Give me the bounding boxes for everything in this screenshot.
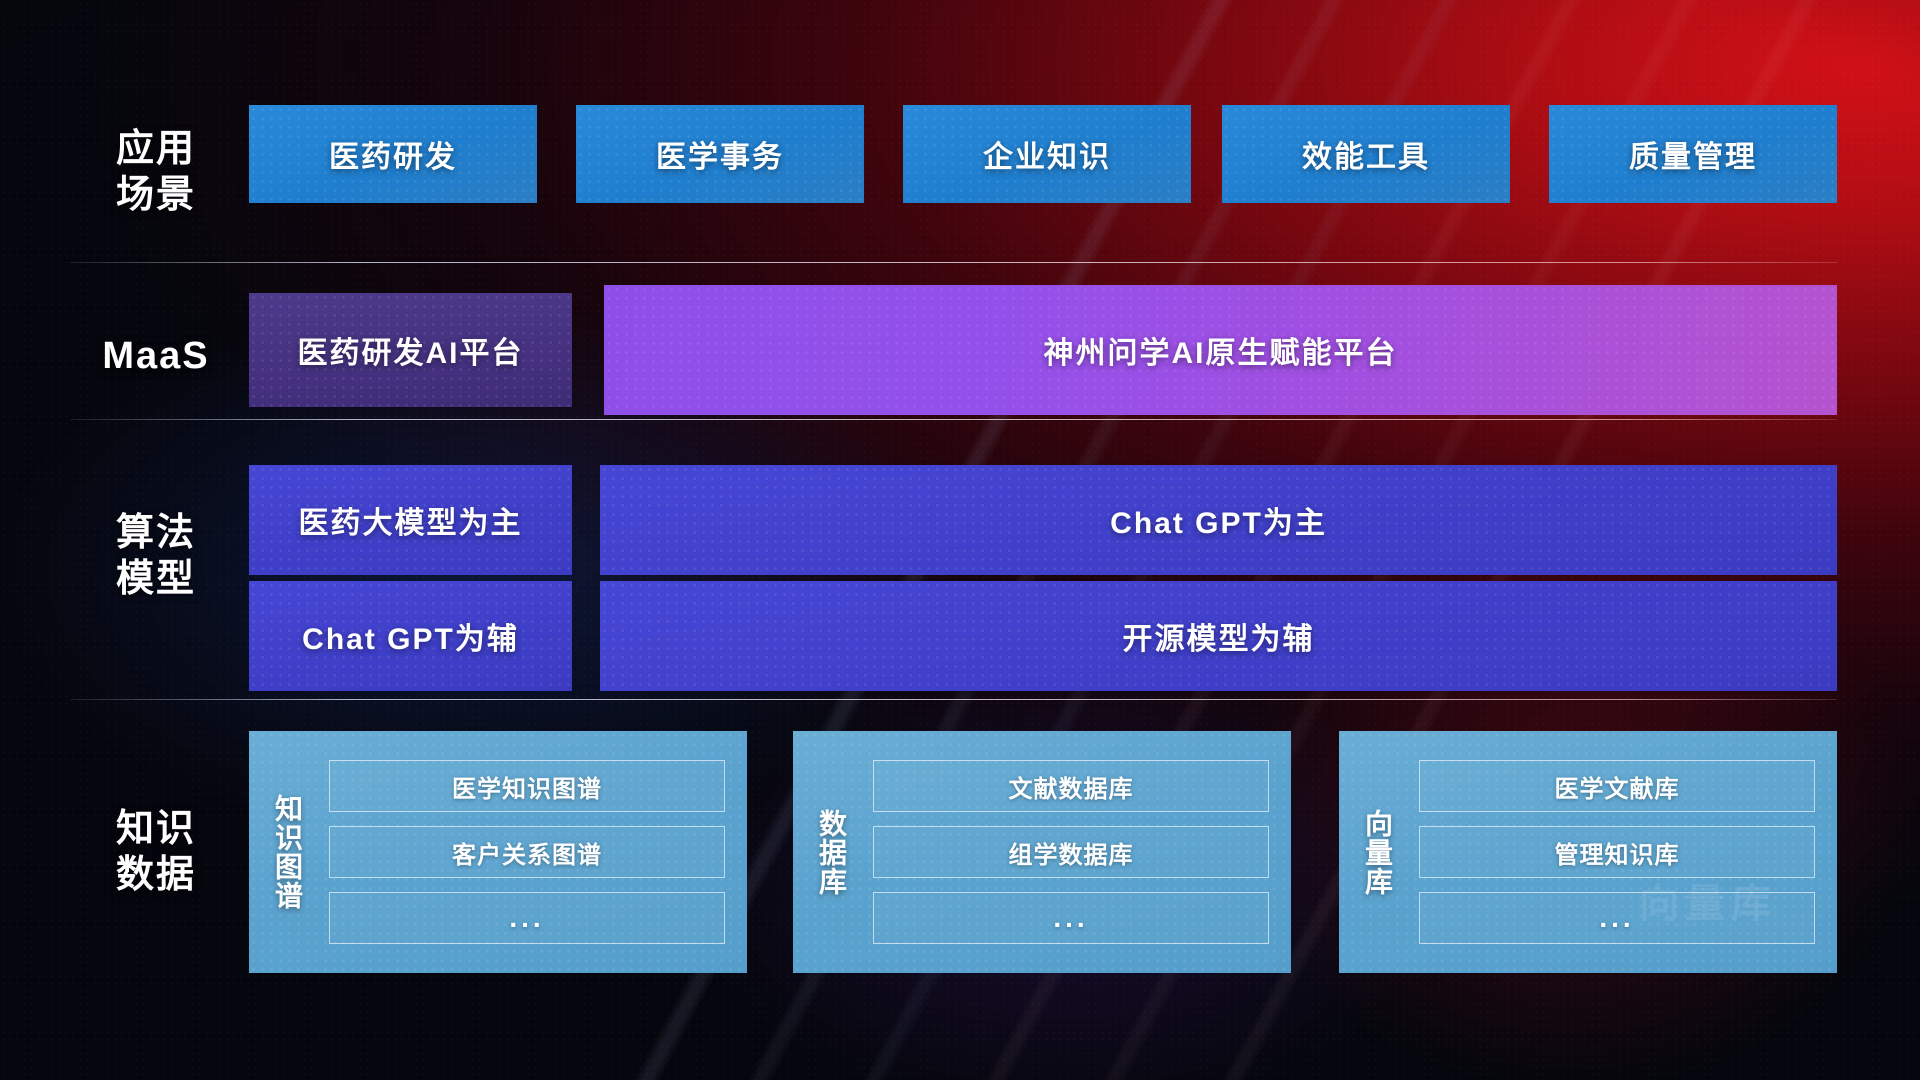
knowledge-group-title: 数据库: [793, 731, 869, 973]
row-label-application: 应用 场景: [70, 126, 242, 218]
knowledge-item[interactable]: 客户关系图谱: [329, 826, 725, 878]
knowledge-item-more[interactable]: ...: [329, 892, 725, 944]
knowledge-item[interactable]: 组学数据库: [873, 826, 1269, 878]
knowledge-item[interactable]: 医学文献库: [1419, 760, 1815, 812]
architecture-diagram-slide: 应用 场景 医药研发 医学事务 企业知识 效能工具 质量管理 MaaS 医药研发…: [0, 0, 1920, 1080]
app-box-label: 医药研发: [329, 132, 457, 176]
maas-box-label: 医药研发AI平台: [298, 328, 524, 372]
app-box-medical-affairs[interactable]: 医学事务: [576, 105, 864, 203]
knowledge-item[interactable]: 管理知识库: [1419, 826, 1815, 878]
knowledge-item-more[interactable]: ...: [873, 892, 1269, 944]
algo-box-label: Chat GPT为主: [1110, 498, 1327, 542]
algo-box-label: Chat GPT为辅: [302, 614, 519, 658]
algo-box-chatgpt-primary[interactable]: Chat GPT为主: [600, 465, 1837, 575]
knowledge-item-list: 文献数据库 组学数据库 ...: [869, 731, 1291, 973]
divider-application-maas: [70, 262, 1837, 263]
knowledge-item-more[interactable]: ...: [1419, 892, 1815, 944]
knowledge-group-title: 知识图谱: [249, 731, 325, 973]
algo-box-label: 医药大模型为主: [299, 498, 523, 542]
divider-algorithm-knowledge: [70, 699, 1837, 700]
diagram-content: 应用 场景 医药研发 医学事务 企业知识 效能工具 质量管理 MaaS 医药研发…: [0, 0, 1920, 1080]
algo-box-opensource-secondary[interactable]: 开源模型为辅: [600, 581, 1837, 691]
app-box-label: 效能工具: [1302, 132, 1430, 176]
knowledge-group-database: 数据库 文献数据库 组学数据库 ...: [793, 731, 1291, 973]
row-label-maas: MaaS: [70, 333, 242, 379]
algo-box-label: 开源模型为辅: [1123, 614, 1315, 658]
knowledge-group-knowledge-graph: 知识图谱 医学知识图谱 客户关系图谱 ...: [249, 731, 747, 973]
knowledge-item[interactable]: 文献数据库: [873, 760, 1269, 812]
maas-box-shenzhou-wenxue-platform[interactable]: 神州问学AI原生赋能平台: [604, 285, 1837, 415]
algo-box-drug-large-model-primary[interactable]: 医药大模型为主: [249, 465, 572, 575]
knowledge-item-list: 医学文献库 管理知识库 ...: [1415, 731, 1837, 973]
divider-maas-algorithm: [70, 419, 1837, 420]
app-box-label: 医学事务: [656, 132, 784, 176]
algo-box-chatgpt-secondary[interactable]: Chat GPT为辅: [249, 581, 572, 691]
row-label-algorithm: 算法 模型: [70, 510, 242, 602]
app-box-label: 质量管理: [1629, 132, 1757, 176]
app-box-enterprise-knowledge[interactable]: 企业知识: [903, 105, 1191, 203]
knowledge-item[interactable]: 医学知识图谱: [329, 760, 725, 812]
knowledge-item-list: 医学知识图谱 客户关系图谱 ...: [325, 731, 747, 973]
app-box-quality-management[interactable]: 质量管理: [1549, 105, 1837, 203]
knowledge-group-vector-store: 向量库 向量库 医学文献库 管理知识库 ...: [1339, 731, 1837, 973]
app-box-drug-rnd[interactable]: 医药研发: [249, 105, 537, 203]
row-label-knowledge: 知识 数据: [70, 806, 242, 898]
knowledge-group-title: 向量库: [1339, 731, 1415, 973]
maas-box-drug-ai-platform[interactable]: 医药研发AI平台: [249, 293, 572, 407]
maas-box-label: 神州问学AI原生赋能平台: [1044, 328, 1398, 372]
app-box-label: 企业知识: [983, 132, 1111, 176]
app-box-efficiency-tools[interactable]: 效能工具: [1222, 105, 1510, 203]
